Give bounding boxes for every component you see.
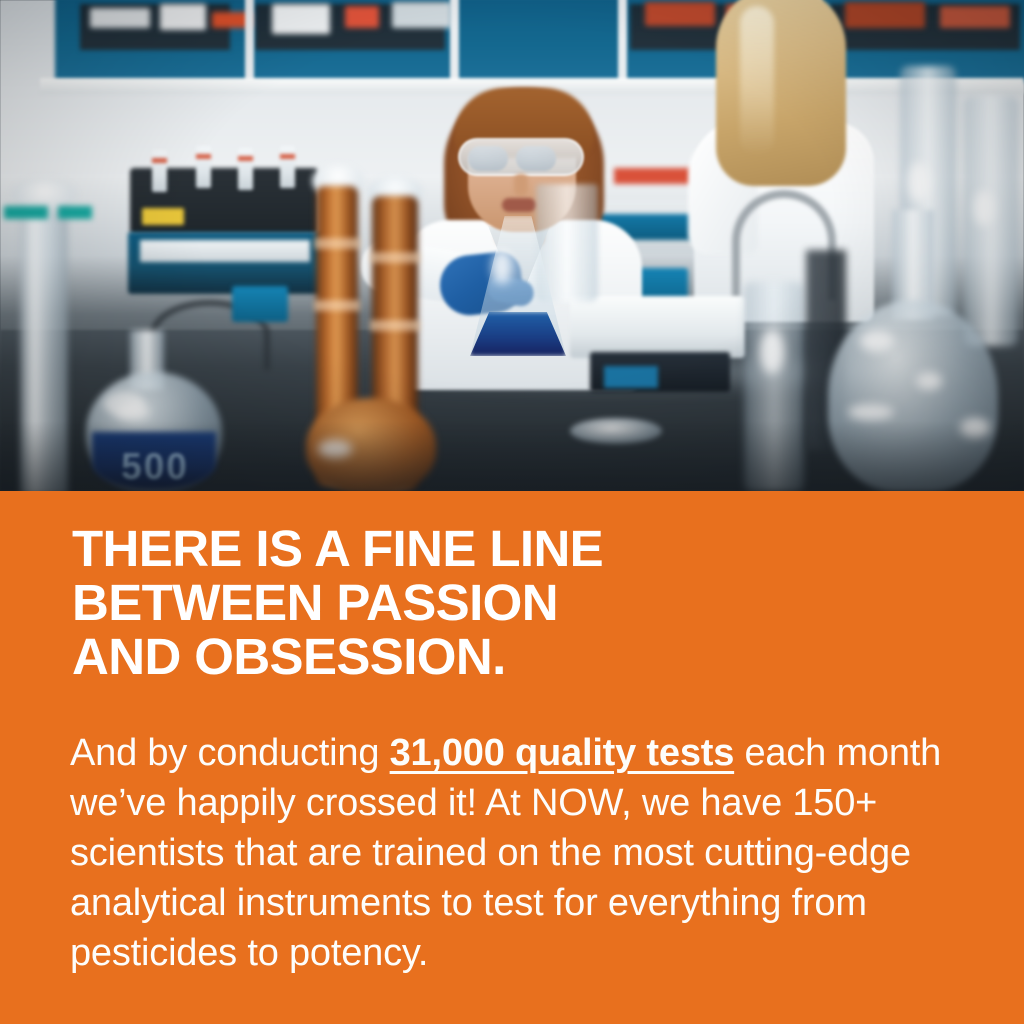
glass-joint-ring <box>314 238 360 249</box>
cabinet-item <box>160 4 206 30</box>
hair-highlight <box>740 6 774 156</box>
cabinet-item <box>940 6 1010 28</box>
flask-volume-label: 500 <box>96 446 214 488</box>
bokeh-highlight <box>960 418 990 438</box>
mouth <box>502 198 536 212</box>
bokeh-highlight <box>318 440 352 458</box>
bokeh-highlight <box>116 404 150 420</box>
volumetric-flask <box>828 300 998 491</box>
quality-tests-highlight: 31,000 quality tests <box>390 732 735 774</box>
cabinet-item <box>272 4 330 34</box>
teal-marking <box>4 206 48 219</box>
background-scientist <box>676 0 886 314</box>
bokeh-highlight <box>974 190 994 226</box>
glass-joint-ring <box>370 252 420 263</box>
lab-photo: 500 <box>0 0 1024 491</box>
teal-marking <box>58 206 92 219</box>
cabinet-item <box>392 2 452 28</box>
sample-vial <box>196 146 211 188</box>
balance-blue-accent <box>604 366 658 388</box>
foreground-glass-column <box>964 96 1018 346</box>
analytical-balance <box>570 296 745 358</box>
cabinet-item <box>345 6 379 28</box>
bokeh-highlight <box>848 404 894 420</box>
blue-drawer <box>232 286 288 322</box>
social-media-card: 500 THERE IS A FINE LINE BETWEEN PASSION… <box>0 0 1024 1024</box>
nose <box>514 174 528 196</box>
glass-joint-ring <box>370 320 420 331</box>
headline-line-2: BETWEEN PASSION <box>72 576 972 630</box>
headline-line-1: THERE IS A FINE LINE <box>72 522 972 576</box>
left-instrument-panel <box>140 240 310 262</box>
instrument-yellow-label <box>142 208 184 225</box>
glass-joint-ring <box>314 300 360 311</box>
headline: THERE IS A FINE LINE BETWEEN PASSION AND… <box>72 522 972 684</box>
cabinet-item <box>90 8 150 28</box>
orange-text-panel: THERE IS A FINE LINE BETWEEN PASSION AND… <box>0 491 1024 1024</box>
foreground-glass-column <box>744 282 804 491</box>
bokeh-highlight <box>860 330 894 352</box>
headline-line-3: AND OBSESSION. <box>72 630 972 684</box>
body-text-before: And by conducting <box>70 732 390 774</box>
safety-goggles <box>458 138 584 176</box>
bokeh-highlight <box>492 250 512 284</box>
blonde-hair <box>716 0 846 186</box>
petri-dish <box>570 418 662 444</box>
bokeh-highlight <box>916 372 942 390</box>
graduated-cylinder <box>20 196 68 491</box>
sample-vial <box>238 148 253 190</box>
body-paragraph: And by conducting 31,000 quality tests e… <box>70 728 950 978</box>
bokeh-highlight <box>760 330 784 374</box>
cabinet-mullion <box>245 0 254 88</box>
bokeh-highlight <box>908 162 930 202</box>
sample-vial <box>280 146 295 188</box>
sample-vial <box>152 150 167 192</box>
